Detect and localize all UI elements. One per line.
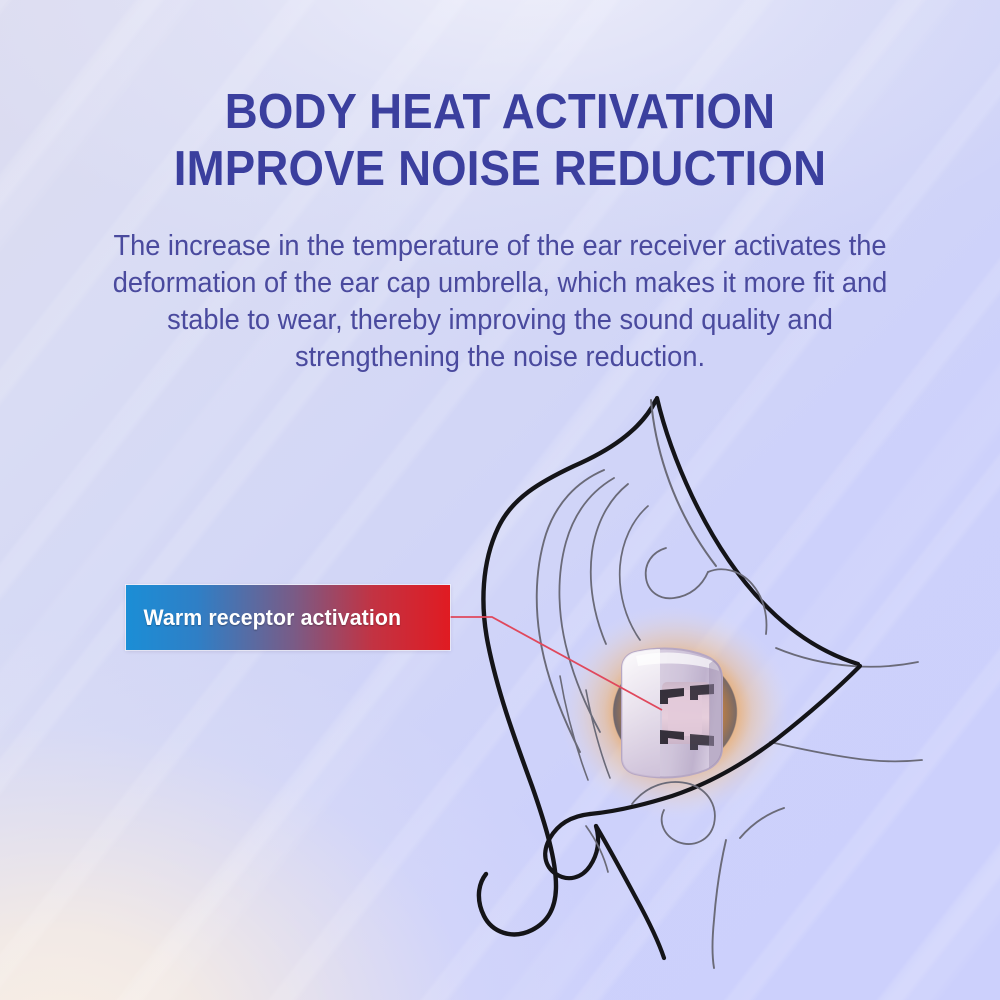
page-title: BODY HEAT ACTIVATION IMPROVE NOISE REDUC…: [35, 84, 965, 199]
silicone-ear-tip: [622, 649, 722, 778]
warm-receptor-callout-badge: Warm receptor activation: [126, 585, 450, 650]
lobe-inner-contour: [713, 840, 727, 968]
callout-label: Warm receptor activation: [126, 605, 401, 631]
canal-lower-wall: [770, 742, 922, 761]
lobule-curve: [596, 826, 664, 958]
body-copy: The increase in the temperature of the e…: [110, 228, 889, 376]
ear-tip-edge-shadow: [709, 660, 722, 768]
antitragus-hook: [646, 548, 708, 598]
headline-line-2: IMPROVE NOISE REDUCTION: [35, 141, 965, 198]
jaw-contour: [740, 808, 784, 838]
headline-line-1: BODY HEAT ACTIVATION: [35, 84, 965, 141]
ear-tip-flange-highlight: [622, 649, 660, 777]
poster-canvas: BODY HEAT ACTIVATION IMPROVE NOISE REDUC…: [0, 0, 1000, 1000]
canal-upper-wall: [776, 648, 918, 667]
helix-crus-line: [651, 400, 716, 566]
